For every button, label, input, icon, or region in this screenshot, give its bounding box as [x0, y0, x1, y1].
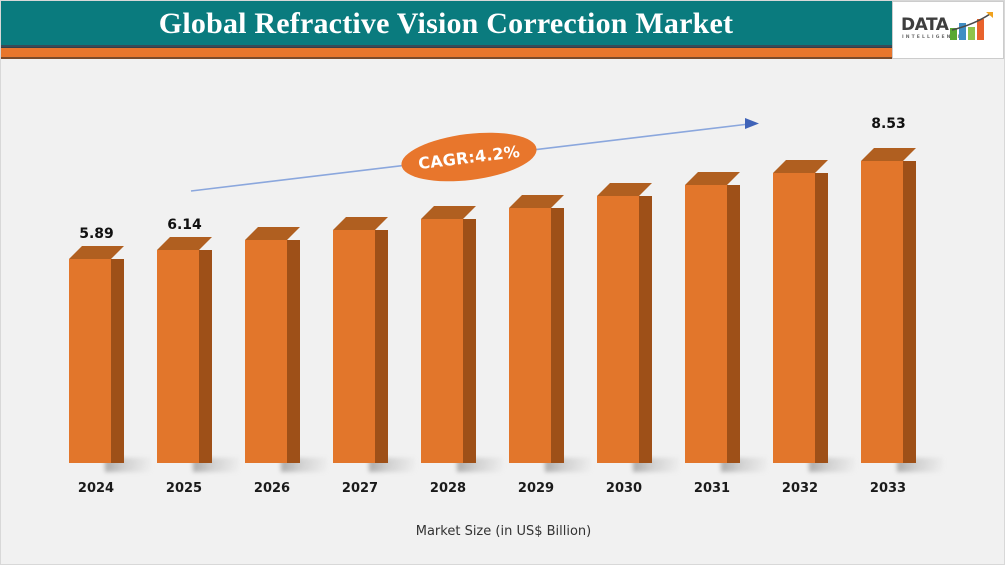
bar-top-face: [69, 246, 124, 259]
bar-front-face: [685, 185, 727, 463]
cagr-label: CAGR:4.2%: [417, 141, 521, 172]
bar-2025: [157, 237, 212, 463]
cagr-badge: CAGR:4.2%: [399, 126, 540, 188]
x-axis-label-2028: 2028: [413, 481, 483, 496]
x-axis-label-2026: 2026: [237, 481, 307, 496]
logo-inner: DATA INTELLIGENCE: [901, 14, 997, 48]
bar-side-face: [639, 196, 652, 463]
bar-2028: [421, 206, 476, 463]
bar-2032: [773, 160, 828, 463]
bar-top-face: [597, 183, 652, 196]
x-axis-label-2033: 2033: [853, 481, 923, 496]
bar-side-face: [815, 173, 828, 463]
logo-growth-arrow-icon: [950, 11, 996, 33]
bar-front-face: [597, 196, 639, 463]
page-title: Global Refractive Vision Correction Mark…: [1, 1, 891, 47]
bar-top-face: [333, 217, 388, 230]
bar-2033: [861, 148, 916, 463]
logo-wordmark: DATA: [901, 16, 948, 34]
bar-top-face: [861, 148, 916, 161]
bar-top-face: [773, 160, 828, 173]
x-axis-label-2029: 2029: [501, 481, 571, 496]
bar-side-face: [903, 161, 916, 463]
bar-top-face: [509, 195, 564, 208]
brand-logo: DATA INTELLIGENCE: [892, 1, 1004, 59]
bar-2030: [597, 183, 652, 463]
chart-area: CAGR:4.2% 5.89 6.14: [1, 59, 1005, 565]
bar-value-label-2025: 6.14: [157, 217, 212, 233]
x-axis-label-2025: 2025: [149, 481, 219, 496]
bar-2024: [69, 246, 124, 463]
x-axis-label-2024: 2024: [61, 481, 131, 496]
x-axis-label-2027: 2027: [325, 481, 395, 496]
bar-value-label-2024: 5.89: [69, 226, 124, 242]
bar-front-face: [861, 161, 903, 463]
bar-front-face: [69, 259, 111, 463]
bar-value-label-2033: 8.53: [861, 116, 916, 132]
chart-caption: Market Size (in US$ Billion): [1, 524, 1005, 539]
bar-side-face: [287, 240, 300, 463]
bar-side-face: [551, 208, 564, 463]
bar-2029: [509, 195, 564, 463]
bar-2027: [333, 217, 388, 463]
bar-front-face: [157, 250, 199, 463]
bar-2031: [685, 172, 740, 463]
bar-side-face: [727, 185, 740, 463]
bar-top-face: [421, 206, 476, 219]
bar-side-face: [375, 230, 388, 463]
bar-front-face: [509, 208, 551, 463]
bar-top-face: [157, 237, 212, 250]
logo-bars-icon: [950, 16, 992, 40]
x-axis-label-2030: 2030: [589, 481, 659, 496]
bar-side-face: [111, 259, 124, 463]
bar-front-face: [421, 219, 463, 463]
slide-canvas: Global Refractive Vision Correction Mark…: [0, 0, 1005, 565]
header-bar: Global Refractive Vision Correction Mark…: [1, 1, 1005, 47]
x-axis-label-2032: 2032: [765, 481, 835, 496]
bar-2026: [245, 227, 300, 463]
bar-front-face: [773, 173, 815, 463]
bar-side-face: [199, 250, 212, 463]
x-axis-label-2031: 2031: [677, 481, 747, 496]
bar-top-face: [245, 227, 300, 240]
bar-side-face: [463, 219, 476, 463]
header-accent-stripe: [1, 47, 1005, 59]
bar-top-face: [685, 172, 740, 185]
bar-front-face: [245, 240, 287, 463]
bar-front-face: [333, 230, 375, 463]
